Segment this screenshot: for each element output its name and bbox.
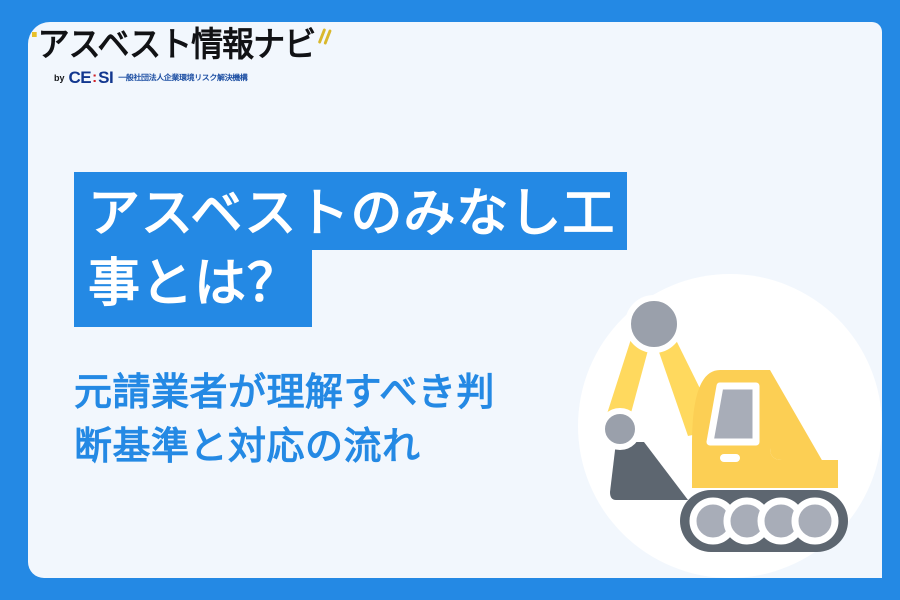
logo-brand-ce: CE <box>69 69 92 86</box>
subtitle-line-1: 元請業者が理解すべき判 <box>74 367 495 421</box>
subtitle-line-2: 断基準と対応の流れ <box>74 421 495 475</box>
site-logo[interactable]: アスベスト情報ナビ by CE : SI 一般社団法人企業環境リスク解決機構 <box>32 28 312 86</box>
logo-title: アスベスト情報ナビ <box>38 28 316 62</box>
excavator-boom-joint-upper <box>628 298 680 350</box>
excavator-boom-joint-lower <box>602 411 638 447</box>
logo-by-label: by <box>54 73 65 83</box>
excavator-cabin-window <box>710 386 756 442</box>
excavator-graphic <box>570 274 882 578</box>
logo-dot-icon <box>32 32 37 37</box>
logo-main-text: アスベスト情報ナビ <box>32 28 295 62</box>
logo-subline: by CE : SI 一般社団法人企業環境リスク解決機構 <box>54 69 312 86</box>
headline-line-2: 事とは？ <box>74 250 312 327</box>
slide-frame: アスベスト情報ナビ by CE : SI 一般社団法人企業環境リスク解決機構 ア… <box>0 0 900 600</box>
logo-brand-si: SI <box>98 69 113 86</box>
excavator-door-handle <box>720 454 740 462</box>
logo-brand-separator: : <box>92 70 97 85</box>
content-card: アスベスト情報ナビ by CE : SI 一般社団法人企業環境リスク解決機構 ア… <box>28 22 882 578</box>
excavator-illustration <box>570 274 882 578</box>
excavator-wheel <box>795 501 835 541</box>
logo-organization: 一般社団法人企業環境リスク解決機構 <box>118 72 247 82</box>
headline-line-1: アスベストのみなし工 <box>74 172 627 250</box>
signal-wave-icon <box>316 26 335 48</box>
page-subtitle: 元請業者が理解すべき判 断基準と対応の流れ <box>74 367 495 475</box>
